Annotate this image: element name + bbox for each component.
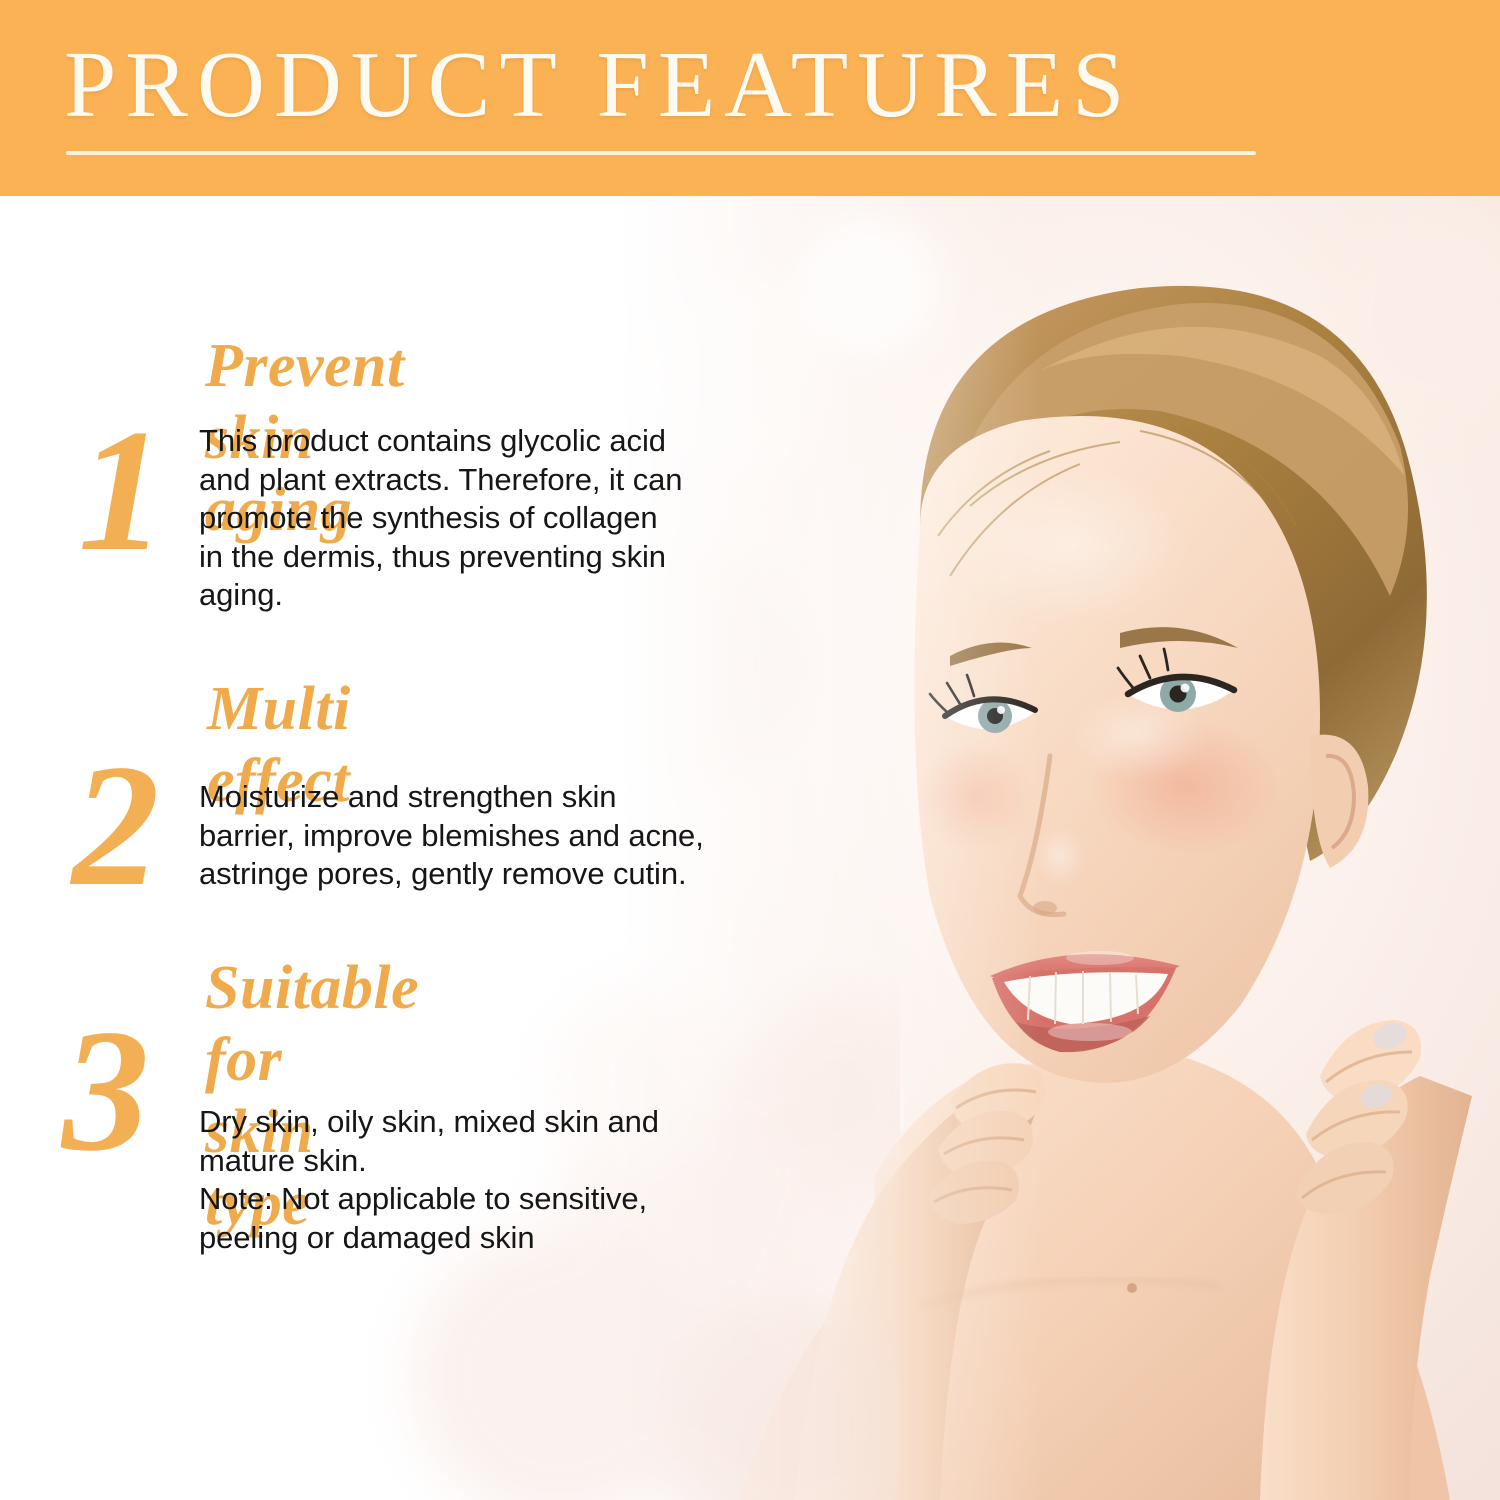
feature-body-1: This product contains glycolic acid and … bbox=[199, 422, 719, 615]
product-features-page: PRODUCT FEATURES bbox=[0, 0, 1500, 1500]
page-title: PRODUCT FEATURES bbox=[64, 34, 1133, 136]
feature-number-3: 3 bbox=[62, 1015, 150, 1165]
model-photo bbox=[620, 196, 1500, 1500]
feature-body-2: Moisturize and strengthen skin barrier, … bbox=[199, 778, 719, 894]
feature-number-2: 2 bbox=[72, 750, 160, 900]
title-underline-rule bbox=[66, 151, 1256, 155]
feature-number-1: 1 bbox=[78, 415, 166, 565]
header-banner: PRODUCT FEATURES bbox=[0, 0, 1500, 196]
feature-body-3: Dry skin, oily skin, mixed skin and matu… bbox=[199, 1103, 719, 1257]
